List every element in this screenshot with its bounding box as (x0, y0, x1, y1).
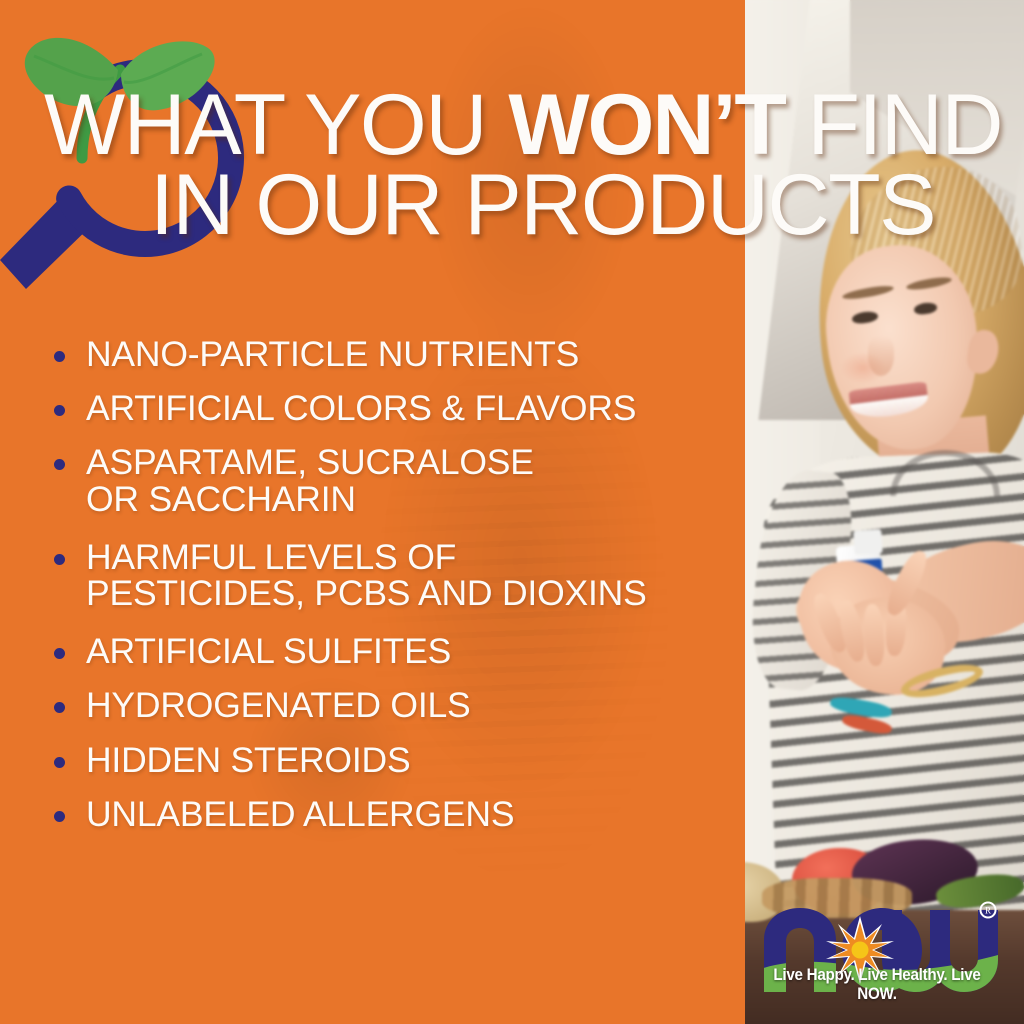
bullet-dot-icon (54, 554, 65, 565)
bullet-dot-icon (54, 757, 65, 768)
list-item-label: HYDROGENATED OILS (86, 687, 754, 723)
bullet-dot-icon (54, 405, 65, 416)
list-item-label: ASPARTAME, SUCRALOSE OR SACCHARIN (86, 444, 754, 516)
list-item: ASPARTAME, SUCRALOSE OR SACCHARIN (54, 444, 754, 516)
list-item-label: ARTIFICIAL COLORS & FLAVORS (86, 390, 754, 426)
list-item-label: NANO-PARTICLE NUTRIENTS (86, 336, 754, 372)
list-item-label: ARTIFICIAL SULFITES (86, 633, 754, 669)
list-item: HARMFUL LEVELS OF PESTICIDES, PCBS AND D… (54, 539, 754, 611)
headline-line-1: WHAT YOU WON’T FIND (0, 86, 1024, 166)
list-item: HIDDEN STEROIDS (54, 742, 754, 778)
bullet-dot-icon (54, 811, 65, 822)
list-item-label: HARMFUL LEVELS OF PESTICIDES, PCBS AND D… (86, 539, 754, 611)
list-item: NANO-PARTICLE NUTRIENTS (54, 336, 754, 372)
exclusions-list: NANO-PARTICLE NUTRIENTS ARTIFICIAL COLOR… (54, 336, 754, 850)
bullet-dot-icon (54, 648, 65, 659)
headline-line-2: IN OUR PRODUCTS (0, 166, 1024, 246)
list-item-label: HIDDEN STEROIDS (86, 742, 754, 778)
list-item: HYDROGENATED OILS (54, 687, 754, 723)
list-item-label: UNLABELED ALLERGENS (86, 796, 754, 832)
marketing-poster: WHAT YOU WON’T FIND IN OUR PRODUCTS NANO… (0, 0, 1024, 1024)
svg-text:R: R (985, 906, 991, 916)
bullet-dot-icon (54, 459, 65, 470)
brand-tagline: Live Happy. Live Healthy. Live NOW. (762, 966, 992, 1004)
bullet-dot-icon (54, 351, 65, 362)
bullet-dot-icon (54, 702, 65, 713)
page-title: WHAT YOU WON’T FIND IN OUR PRODUCTS (0, 86, 1024, 246)
list-item: ARTIFICIAL SULFITES (54, 633, 754, 669)
list-item: UNLABELED ALLERGENS (54, 796, 754, 832)
list-item: ARTIFICIAL COLORS & FLAVORS (54, 390, 754, 426)
